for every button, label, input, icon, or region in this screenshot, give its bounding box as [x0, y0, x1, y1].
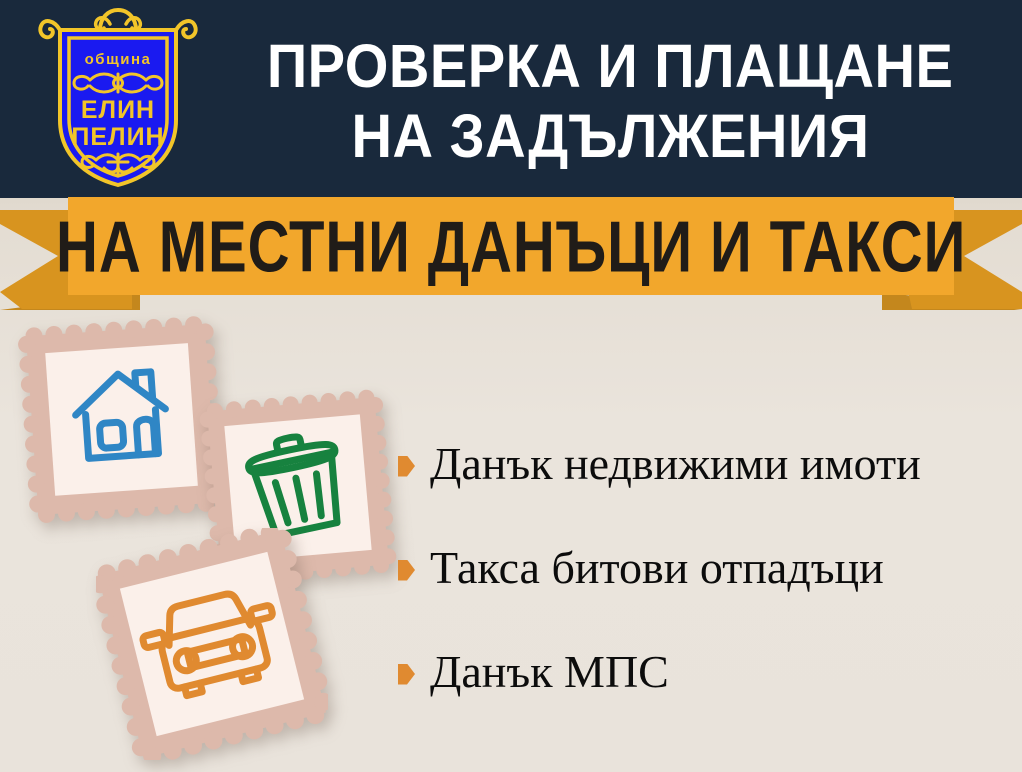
ribbon-banner: НА МЕСТНИ ДАНЪЦИ И ТАКСИ: [68, 197, 954, 295]
page-title: ПРОВЕРКА И ПЛАЩАНЕ НА ЗАДЪЛЖЕНИЯ: [198, 16, 1022, 188]
stamp-card-house: [14, 312, 229, 532]
crest-text-elin: ЕЛИН: [81, 96, 155, 124]
title-line-2: НА ЗАДЪЛЖЕНИЯ: [351, 102, 869, 172]
list-item[interactable]: Такса битови отпадъци: [398, 516, 1012, 620]
list-item-label: Данък МПС: [430, 649, 669, 695]
list-item-label: Такса битови отпадъци: [430, 545, 884, 591]
poster-canvas: община ЕЛИН ПЕЛИН: [0, 0, 1022, 772]
subtitle-ribbon: НА МЕСТНИ ДАНЪЦИ И ТАКСИ: [0, 197, 1022, 312]
bullet-arrow-icon: [398, 560, 415, 581]
crest-text-pelin: ПЕЛИН: [71, 123, 164, 151]
list-item-label: Данък недвижими имоти: [430, 441, 921, 487]
crest-text-obshtina: община: [85, 51, 152, 68]
coat-of-arms: община ЕЛИН ПЕЛИН: [38, 8, 198, 190]
bullet-arrow-icon: [398, 664, 415, 685]
list-item[interactable]: Данък недвижими имоти: [398, 412, 1012, 516]
poster-header: община ЕЛИН ПЕЛИН: [0, 0, 1022, 198]
stamp-card-car: [96, 528, 328, 765]
bullet-arrow-icon: [398, 456, 415, 477]
list-item[interactable]: Данък МПС: [398, 620, 1012, 724]
ribbon-label: НА МЕСТНИ ДАНЪЦИ И ТАКСИ: [56, 204, 966, 288]
coat-of-arms-svg: община ЕЛИН ПЕЛИН: [38, 8, 198, 190]
tax-types-list: Данък недвижими имоти Такса битови отпад…: [398, 412, 1012, 724]
title-line-1: ПРОВЕРКА И ПЛАЩАНЕ: [267, 32, 954, 102]
